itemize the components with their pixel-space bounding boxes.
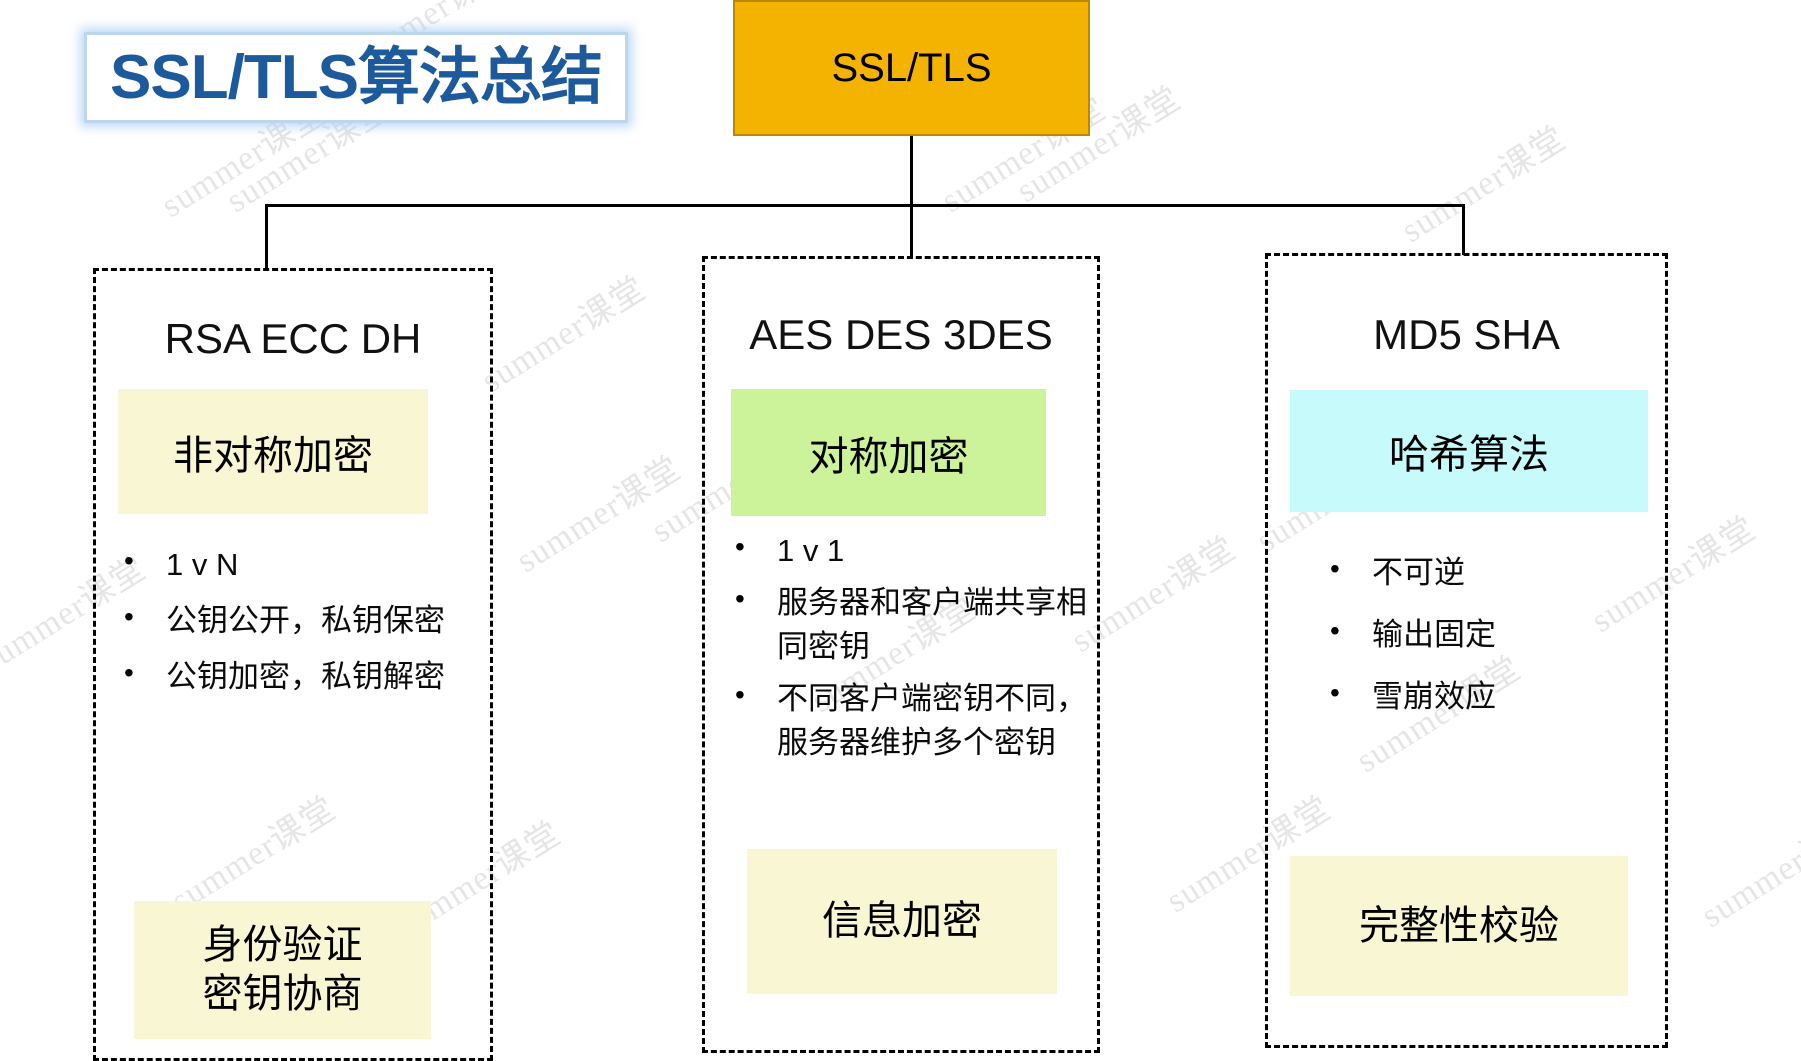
column-asymmetric[interactable]: RSA ECC DH 非对称加密 1 v N 公钥公开，私钥保密 公钥加密，私钥…	[93, 268, 493, 1061]
connector-drop-left	[265, 204, 268, 270]
bullet-list-asymmetric: 1 v N 公钥公开，私钥保密 公钥加密，私钥解密	[112, 543, 482, 711]
root-node-label: SSL/TLS	[831, 46, 991, 91]
category-band-symmetric: 对称加密	[731, 389, 1046, 516]
root-node-ssl-tls[interactable]: SSL/TLS	[733, 0, 1090, 136]
list-item: 1 v 1	[723, 529, 1091, 573]
category-band-label: 对称加密	[809, 424, 969, 482]
connector-drop-right	[1462, 204, 1465, 255]
watermark: summer课堂	[470, 262, 653, 402]
column-hash[interactable]: MD5 SHA 哈希算法 不可逆 输出固定 雪崩效应 完整性校验	[1265, 253, 1668, 1048]
watermark: summer课堂	[1390, 112, 1573, 252]
connector-root-stem	[910, 136, 913, 206]
list-item: 输出固定	[1318, 613, 1658, 657]
category-band-hash: 哈希算法	[1290, 390, 1648, 512]
list-item: 公钥公开，私钥保密	[112, 599, 482, 643]
bullet-list-hash: 不可逆 输出固定 雪崩效应	[1318, 551, 1658, 737]
column-heading-symmetric: AES DES 3DES	[705, 311, 1097, 359]
column-symmetric[interactable]: AES DES 3DES 对称加密 1 v 1 服务器和客户端共享相同密钥 不同…	[702, 256, 1100, 1053]
connector-horizontal-bus	[265, 204, 1465, 207]
watermark: summer课堂	[1690, 797, 1801, 937]
list-item: 雪崩效应	[1318, 675, 1658, 719]
connector-drop-middle	[910, 204, 913, 258]
purpose-box-asymmetric: 身份验证 密钥协商	[134, 901, 431, 1039]
purpose-box-symmetric: 信息加密	[747, 849, 1057, 994]
purpose-line: 密钥协商	[203, 970, 363, 1019]
bullet-list-symmetric: 1 v 1 服务器和客户端共享相同密钥 不同客户端密钥不同，服务器维护多个密钥	[723, 529, 1091, 773]
category-band-label: 哈希算法	[1389, 422, 1549, 480]
purpose-line: 完整性校验	[1359, 902, 1559, 951]
purpose-box-hash: 完整性校验	[1290, 856, 1628, 996]
list-item: 服务器和客户端共享相同密钥	[723, 581, 1091, 669]
list-item: 不可逆	[1318, 551, 1658, 595]
list-item: 1 v N	[112, 543, 482, 587]
category-band-label: 非对称加密	[173, 423, 373, 481]
column-heading-asymmetric: RSA ECC DH	[96, 315, 490, 363]
page-title-banner: SSL/TLS算法总结	[84, 32, 628, 123]
list-item: 公钥加密，私钥解密	[112, 655, 482, 699]
page-title: SSL/TLS算法总结	[110, 47, 602, 109]
list-item: 不同客户端密钥不同，服务器维护多个密钥	[723, 677, 1091, 765]
watermark: summer课堂	[505, 442, 688, 582]
purpose-line: 信息加密	[822, 897, 982, 946]
diagram-canvas: summer课堂 summer课堂 summer课堂 summer课堂 summ…	[0, 0, 1801, 1061]
column-heading-hash: MD5 SHA	[1268, 311, 1665, 359]
purpose-line: 身份验证	[203, 921, 363, 970]
category-band-asymmetric: 非对称加密	[118, 389, 428, 514]
